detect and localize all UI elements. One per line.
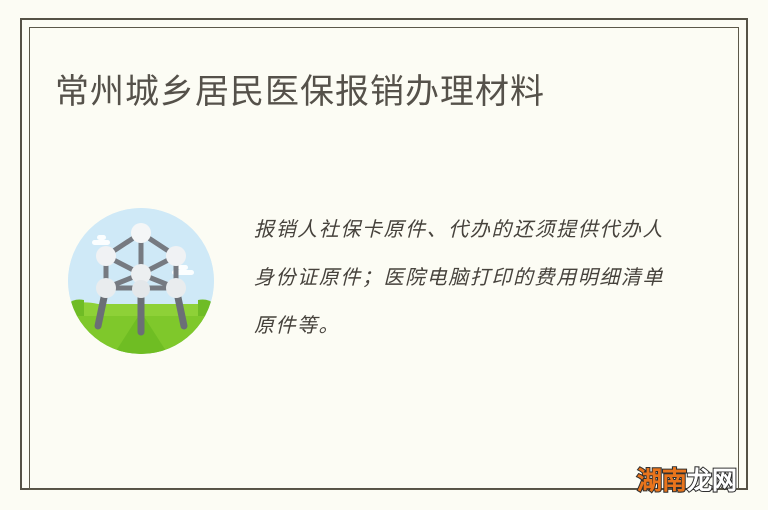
page-title: 常州城乡居民医保报销办理材料: [55, 69, 545, 115]
article-card: 常州城乡居民医保报销办理材料: [29, 27, 739, 490]
watermark-front-layer: 湖南龙网: [637, 466, 737, 496]
site-watermark: 湖南龙网 湖南龙网: [637, 466, 737, 496]
illustration-svg: [68, 208, 214, 354]
article-body-block: 报销人社保卡原件、代办的还须提供代办人身份证原件；医院电脑打印的费用明细清单原件…: [29, 205, 739, 354]
atomium-landmark-illustration: [68, 208, 214, 354]
watermark-text-primary-fill: 湖南: [637, 466, 687, 495]
watermark-text-secondary-fill: 龙网: [687, 466, 737, 495]
grass-right-bank: [198, 300, 214, 355]
grass-left-bank: [68, 300, 84, 355]
article-body-text: 报销人社保卡原件、代办的还须提供代办人身份证原件；医院电脑打印的费用明细清单原件…: [254, 205, 664, 349]
